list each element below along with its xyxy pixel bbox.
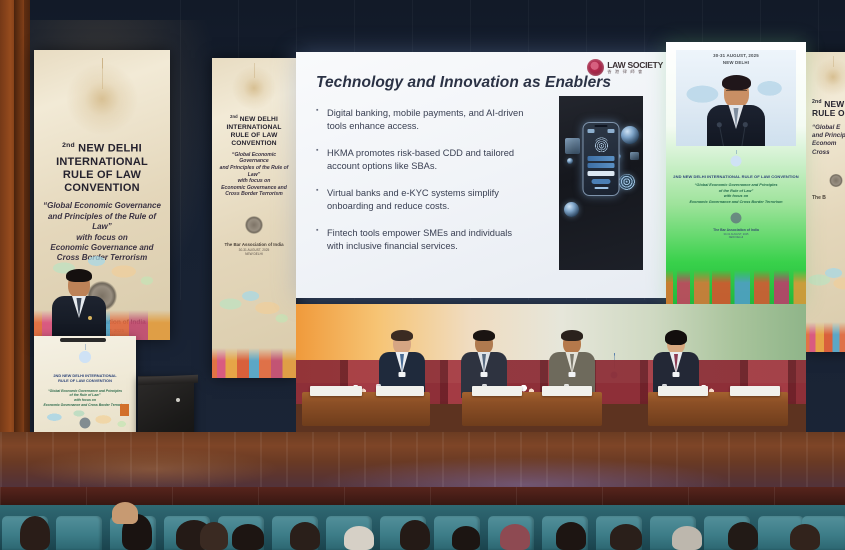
speaker-hair xyxy=(66,269,92,282)
status-led xyxy=(176,398,180,402)
panelist-head xyxy=(393,333,411,354)
audience-member xyxy=(400,520,430,550)
banner-title-ordinal: 2nd xyxy=(62,142,75,149)
auditorium-seat xyxy=(56,516,102,550)
audience-member xyxy=(452,526,480,550)
speaker-torso xyxy=(707,105,765,146)
name-plate xyxy=(730,386,780,396)
ashoka-chakra-icon xyxy=(229,63,279,113)
audience-member xyxy=(672,526,702,550)
banner-title-line2: RULE OF LAW CONVENTION xyxy=(63,169,141,194)
slide-title: Technology and Innovation as Enablers xyxy=(316,74,611,92)
bar-association-seal-icon xyxy=(829,174,842,187)
india-skyline-graphic xyxy=(212,348,296,378)
audience-member xyxy=(344,526,374,550)
audience-member xyxy=(500,524,530,550)
panelist-head xyxy=(563,333,581,354)
banner-subtitle: “Global Economic Governance and Principl… xyxy=(212,152,296,198)
side-banner-subtitle: “Global Economic Governance and Principl… xyxy=(666,183,806,205)
orange-equipment-box xyxy=(120,404,129,416)
smartphone-graphic xyxy=(583,122,620,196)
audience-member xyxy=(556,522,586,550)
audience-member xyxy=(610,524,642,550)
banner-title: 2nd NEW DELHI INTERNATIONAL RULE OF LAW … xyxy=(34,142,170,195)
name-plate xyxy=(376,386,424,396)
microphone-icon xyxy=(719,125,725,146)
banner-date: 30-31 AUGUST, 2025 NEW DELHI xyxy=(212,248,296,256)
floor-reflection xyxy=(0,432,845,494)
name-badge xyxy=(569,372,576,377)
phone-status-bar xyxy=(584,127,619,133)
side-banner-title: 2ND NEW DELHI INTERNATIONAL RULE OF LAW … xyxy=(666,174,806,179)
panel-table xyxy=(648,392,788,426)
fingerprint-icon xyxy=(594,137,608,153)
slide-bullet: HKMA promotes risk-based CDD and tailore… xyxy=(316,147,531,174)
banner-organiser: The Bar Association of India xyxy=(212,242,296,247)
ashoka-chakra-icon xyxy=(812,56,845,98)
audience-member xyxy=(200,522,228,550)
microphone-icon xyxy=(741,125,746,146)
india-skyline-graphic xyxy=(806,322,845,352)
panelist-head xyxy=(667,333,685,354)
banner-subtitle: “Global E and Princip Econom Cross xyxy=(806,124,845,156)
audience-member xyxy=(112,502,138,524)
conference-hall-scene: 2nd NEW DELHI INTERNATIONAL RULE OF LAW … xyxy=(0,0,845,550)
audience-member xyxy=(232,524,264,550)
side-banner-organiser: The Bar Association of India xyxy=(666,228,806,232)
sphere-graphic xyxy=(621,126,639,144)
cabinet-top xyxy=(138,375,198,386)
panel-table xyxy=(462,392,602,426)
name-badge xyxy=(399,372,406,377)
lapel-pin-icon xyxy=(88,316,92,320)
world-map-graphic xyxy=(212,272,296,352)
rollup-banner-right: 2nd NEW D RULE OF “Global E and Princip … xyxy=(806,52,845,352)
slide-bullet: Digital banking, mobile payments, and AI… xyxy=(316,107,531,134)
feed-overlay-text: 30-31 AUGUST, 2025 NEW DELHI xyxy=(676,53,796,66)
slide-bullet-list: Digital banking, mobile payments, and AI… xyxy=(316,107,531,267)
panelist-head xyxy=(475,333,493,354)
name-badge xyxy=(673,372,680,377)
fingerprint-sphere-graphic xyxy=(619,174,635,190)
stage-floor xyxy=(0,432,845,494)
phone-buttons xyxy=(584,156,619,168)
speaker-head xyxy=(68,272,90,298)
phone-input-field xyxy=(588,171,615,176)
stage-speaker-at-lectern xyxy=(52,272,106,342)
chip-graphic-icon xyxy=(565,138,580,154)
secondary-projection-screen: 30-31 AUGUST, 2025 NEW DELHI 2ND NEW DEL… xyxy=(666,42,806,304)
ashoka-chakra-icon xyxy=(61,58,143,140)
glasses-icon xyxy=(726,90,747,95)
side-screen-banner: 2ND NEW DELHI INTERNATIONAL RULE OF LAW … xyxy=(666,150,806,239)
name-plate xyxy=(310,386,362,396)
fintech-illustration xyxy=(559,96,643,270)
world-map-graphic xyxy=(806,252,845,322)
phone-cta-button xyxy=(592,179,611,185)
bar-association-seal-icon xyxy=(728,210,744,226)
chip-graphic-icon-small xyxy=(630,152,639,160)
rollup-banner-centre: 2nd NEW DELHI INTERNATIONAL RULE OF LAW … xyxy=(212,58,296,378)
name-plate xyxy=(472,386,522,396)
law-society-wordmark-cn: 香 港 律 師 會 xyxy=(607,70,663,74)
ashoka-chakra-icon xyxy=(72,344,98,370)
panel-table xyxy=(302,392,430,426)
speaker-hair xyxy=(722,75,751,90)
name-plate xyxy=(542,386,592,396)
audience-member xyxy=(290,522,320,550)
banner-title: 2nd NEW D RULE OF xyxy=(806,99,845,120)
banner-title: 2nd NEW DELHI INTERNATIONAL RULE OF LAW … xyxy=(212,115,296,147)
india-skyline-graphic xyxy=(666,270,806,304)
sphere-graphic-small xyxy=(567,158,573,164)
main-projection-screen: LAW SOCIETY 香 港 律 師 會 Technology and Inn… xyxy=(296,52,671,298)
panel-discussion-screen xyxy=(296,304,806,432)
audience-seating xyxy=(0,505,845,550)
sphere-graphic xyxy=(564,202,579,217)
wood-wall-panel-left-inner xyxy=(14,0,24,470)
audience-member xyxy=(790,524,820,550)
name-badge xyxy=(481,372,488,377)
speaker-head xyxy=(724,78,749,108)
ashoka-chakra-icon xyxy=(725,150,747,172)
slide-bullet: Virtual banks and e-KYC systems simplify… xyxy=(316,187,531,214)
slide-bullet: Fintech tools empower SMEs and individua… xyxy=(316,227,531,254)
name-plate xyxy=(658,386,708,396)
phone-home-indicator xyxy=(594,187,608,188)
microphone-icon xyxy=(60,338,106,342)
lectern-title: 2ND NEW DELHI INTERNATIONAL RULE OF LAW … xyxy=(34,373,136,384)
side-banner-date: 30-31 AUGUST, 2025 NEW DELHI xyxy=(666,233,806,239)
bar-association-seal-icon xyxy=(245,216,263,234)
banner-organiser: The B xyxy=(806,195,845,201)
speaker-figure xyxy=(707,78,765,146)
speaker-video-feed: 30-31 AUGUST, 2025 NEW DELHI xyxy=(676,50,796,146)
audience-member xyxy=(728,522,758,550)
audience-member xyxy=(20,516,50,550)
